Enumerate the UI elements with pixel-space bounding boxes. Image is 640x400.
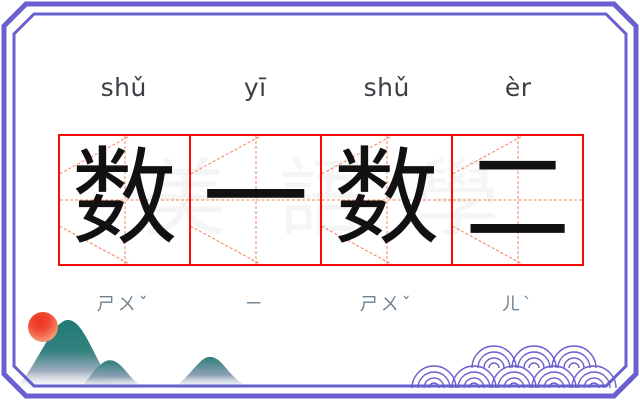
pinyin-1: shǔ [58,64,190,110]
flashcard-canvas: 美 語 學 shǔ yī shǔ èr 数 一 数 [0,0,640,400]
zhuyin-2: ㄧ [190,286,322,320]
character-1: 数 [60,136,189,264]
grid-cell-2[interactable]: 一 [191,136,322,264]
grid-cell-3[interactable]: 数 [322,136,453,264]
sun-icon [28,312,58,342]
zhuyin-3: ㄕㄨˇ [321,286,453,320]
wave-arc-stack [412,366,456,388]
pinyin-3: shǔ [321,64,453,110]
wave-arc-stack [552,346,596,368]
wave-arc-stack [472,346,516,368]
pinyin-2: yī [190,64,322,110]
zhuyin-row: ㄕㄨˇ ㄧ ㄕㄨˇ ㄦˋ [58,286,584,320]
wave-arc-stack [452,366,496,388]
mountain-peak-far [168,357,256,390]
wave-arc-stack [512,346,556,368]
wave-arc-stack [492,366,536,388]
character-3: 数 [322,136,451,264]
pinyin-4: èr [453,64,585,110]
grid-cell-1[interactable]: 数 [60,136,191,264]
pinyin-row: shǔ yī shǔ èr [58,64,584,110]
wave-arc-stack [572,366,616,388]
zhuyin-1: ㄕㄨˇ [58,286,190,320]
character-4: 二 [453,136,582,264]
grid-cell-4[interactable]: 二 [453,136,582,264]
zhuyin-4: ㄦˋ [453,286,585,320]
character-2: 一 [191,136,320,264]
wave-pattern-icon [404,328,634,390]
wave-arc-stack [532,366,576,388]
character-grid: 数 一 数 二 [58,134,584,266]
